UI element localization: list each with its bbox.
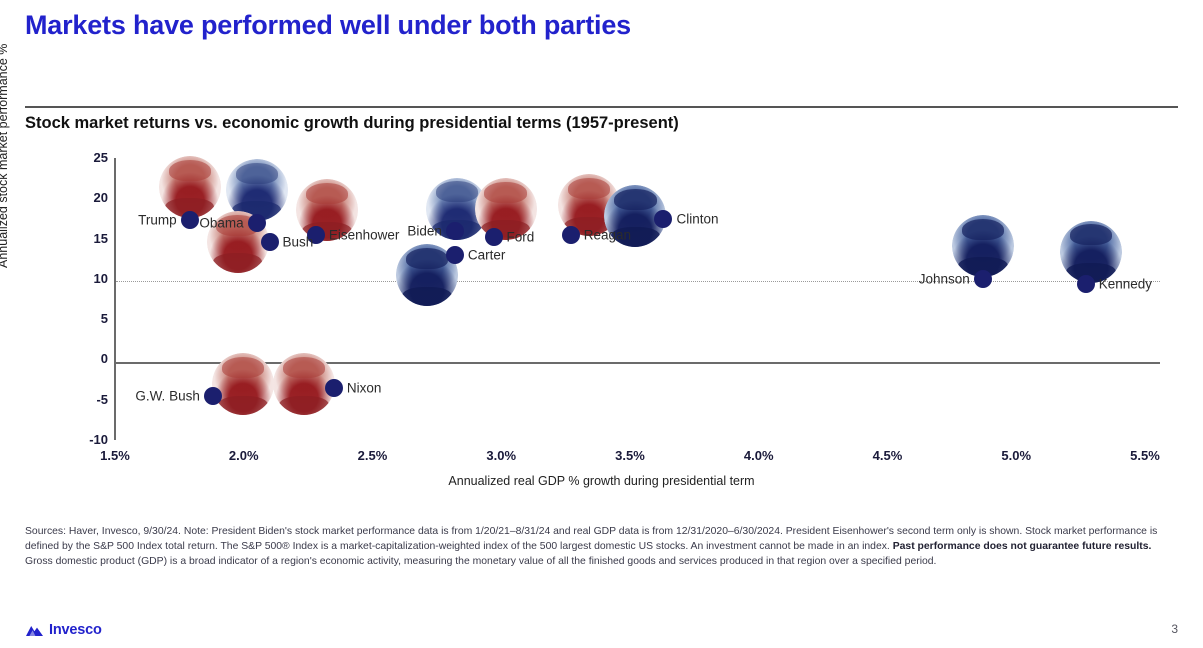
- point-label-obama: Obama: [199, 216, 243, 231]
- x-tick-label: 5.0%: [1001, 448, 1031, 463]
- portrait-kennedy: [1060, 221, 1122, 283]
- portrait-g-w-bush: [212, 353, 274, 415]
- scatter-chart: Annualized stock market performance % 25…: [0, 140, 1203, 500]
- point-label-g-w-bush: G.W. Bush: [135, 389, 200, 404]
- x-tick-label: 2.5%: [358, 448, 388, 463]
- y-tick-label: 25: [94, 150, 108, 165]
- point-label-trump: Trump: [138, 213, 177, 228]
- title-divider: [25, 106, 1178, 108]
- point-label-bush: Bush: [283, 234, 314, 249]
- y-tick-label: 0: [101, 351, 108, 366]
- data-point-carter[interactable]: [446, 246, 464, 264]
- point-label-reagan: Reagan: [584, 228, 631, 243]
- data-point-g-w-bush[interactable]: [204, 387, 222, 405]
- point-label-kennedy: Kennedy: [1099, 276, 1152, 291]
- chart-subtitle: Stock market returns vs. economic growth…: [25, 114, 679, 133]
- page-title: Markets have performed well under both p…: [25, 10, 631, 41]
- portrait-johnson: [952, 215, 1014, 277]
- x-axis-title: Annualized real GDP % growth during pres…: [0, 474, 1203, 488]
- x-tick-label: 3.0%: [486, 448, 516, 463]
- invesco-logo: Invesco: [25, 622, 102, 638]
- footnote: Sources: Haver, Invesco, 9/30/24. Note: …: [25, 524, 1180, 570]
- y-tick-label: 20: [94, 190, 108, 205]
- y-tick-label: 10: [94, 271, 108, 286]
- data-point-clinton[interactable]: [654, 210, 672, 228]
- point-label-biden: Biden: [407, 223, 442, 238]
- y-tick-label: -5: [96, 392, 108, 407]
- invesco-logo-text: Invesco: [49, 622, 102, 638]
- y-axis-ticks: 2520151050-5-10: [60, 140, 108, 500]
- page-number: 3: [1171, 622, 1178, 636]
- data-point-kennedy[interactable]: [1077, 275, 1095, 293]
- point-label-johnson: Johnson: [919, 271, 970, 286]
- data-point-johnson[interactable]: [974, 270, 992, 288]
- y-tick-label: 15: [94, 231, 108, 246]
- y-tick-label: 5: [101, 311, 108, 326]
- point-label-clinton: Clinton: [676, 212, 718, 227]
- footnote-bold: Past performance does not guarantee futu…: [893, 541, 1152, 552]
- point-label-carter: Carter: [468, 248, 506, 263]
- x-axis-ticks: 1.5%2.0%2.5%3.0%3.5%4.0%4.5%5.0%5.5%: [0, 448, 1203, 470]
- data-point-trump[interactable]: [181, 211, 199, 229]
- footnote-part-2: Gross domestic product (GDP) is a broad …: [25, 556, 936, 567]
- data-point-reagan[interactable]: [562, 226, 580, 244]
- slide: Markets have performed well under both p…: [0, 0, 1203, 648]
- data-point-biden[interactable]: [446, 222, 464, 240]
- data-point-ford[interactable]: [485, 228, 503, 246]
- x-tick-label: 2.0%: [229, 448, 259, 463]
- y-axis-title: Annualized stock market performance %: [0, 44, 10, 268]
- x-tick-label: 4.0%: [744, 448, 774, 463]
- x-tick-label: 1.5%: [100, 448, 130, 463]
- point-label-ford: Ford: [507, 229, 535, 244]
- portrait-trump: [159, 156, 221, 218]
- data-point-nixon[interactable]: [325, 379, 343, 397]
- x-tick-label: 3.5%: [615, 448, 645, 463]
- x-tick-label: 4.5%: [873, 448, 903, 463]
- point-label-nixon: Nixon: [347, 381, 382, 396]
- data-point-bush[interactable]: [261, 233, 279, 251]
- y-tick-label: -10: [89, 432, 108, 447]
- invesco-mark-icon: [25, 623, 44, 638]
- point-label-eisenhower: Eisenhower: [329, 228, 400, 243]
- x-tick-label: 5.5%: [1130, 448, 1160, 463]
- data-point-obama[interactable]: [248, 214, 266, 232]
